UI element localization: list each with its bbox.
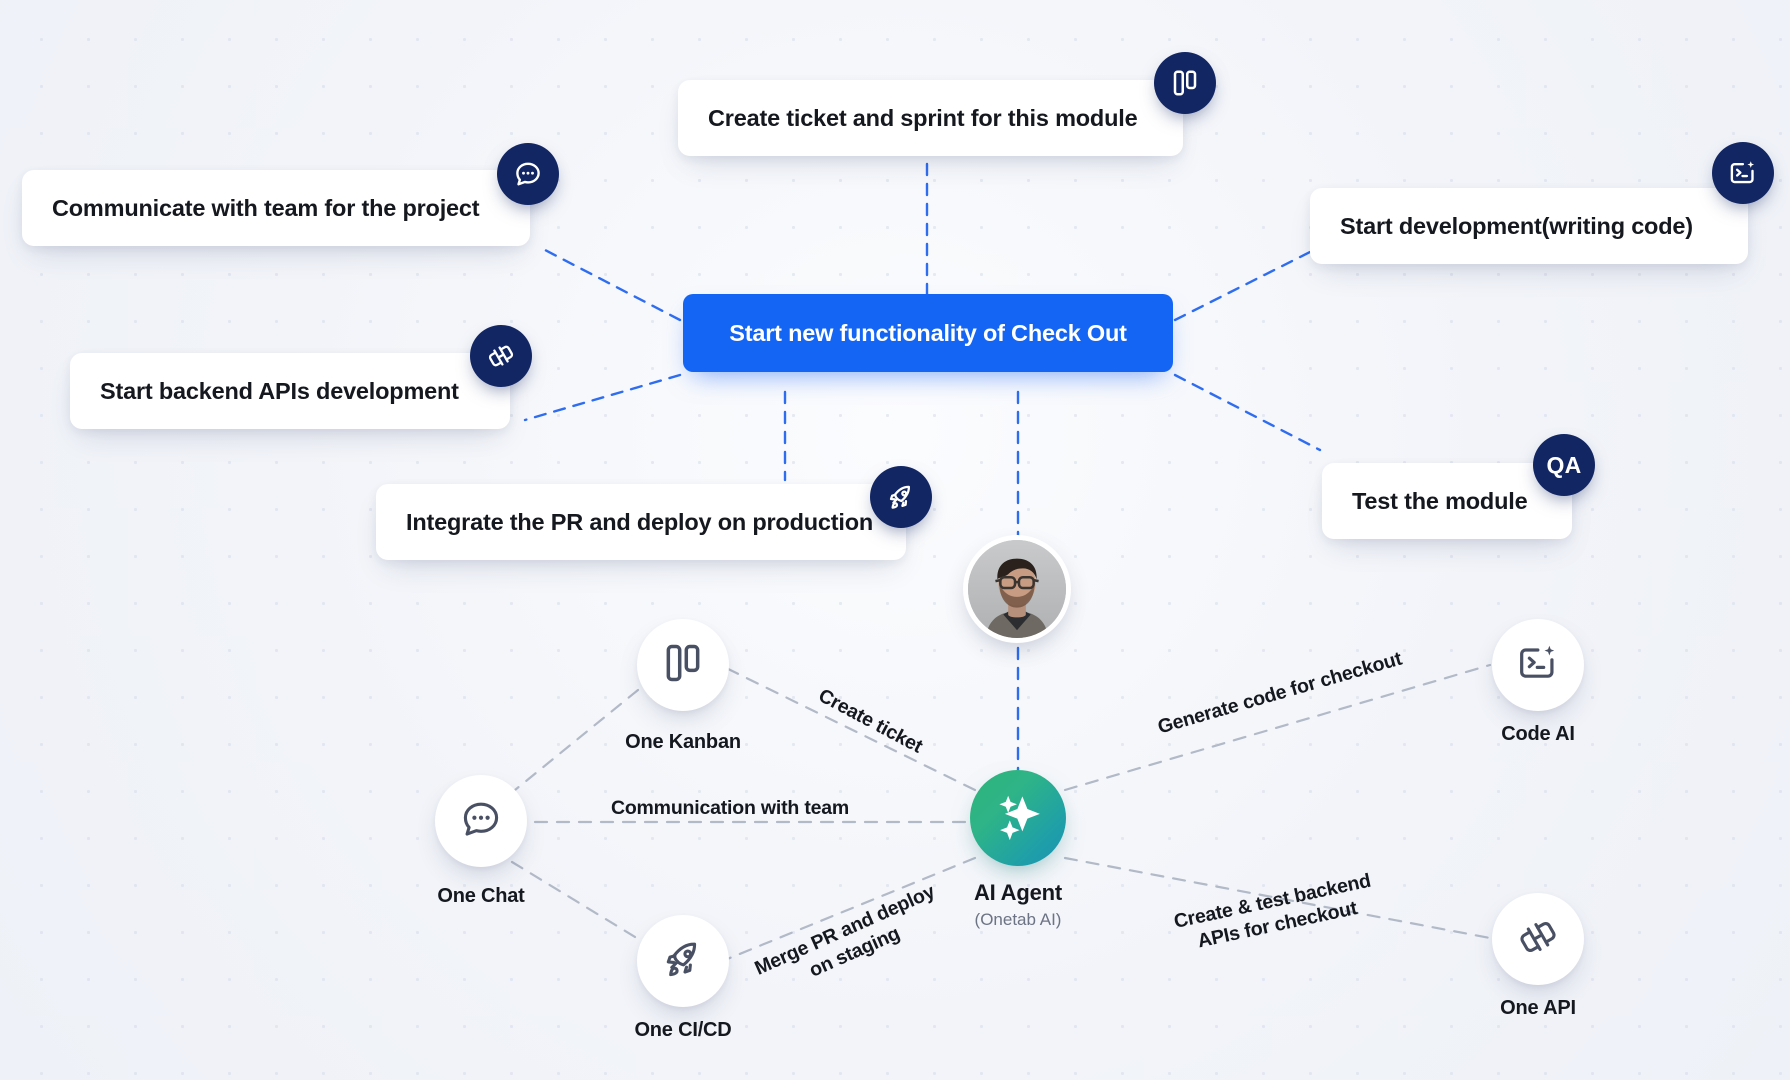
center-node[interactable]: Start new functionality of Check Out	[683, 294, 1173, 372]
edge-center-to-development	[1175, 252, 1310, 320]
service-node-one-kanban[interactable]	[637, 619, 729, 711]
code-ai-icon	[1728, 158, 1758, 188]
chat-icon-badge	[497, 143, 559, 205]
kanban-icon	[661, 641, 705, 690]
task-card-backend-apis[interactable]: Start backend APIs development	[70, 353, 510, 429]
qa-icon-badge: QA	[1533, 434, 1595, 496]
rocket-icon	[886, 482, 916, 512]
task-card-label: Communicate with team for the project	[52, 195, 479, 222]
rocket-icon	[661, 937, 705, 986]
kanban-icon	[1170, 68, 1200, 98]
service-label-one-api: One API	[1428, 997, 1648, 1020]
edge-label-communication: Communication with team	[600, 797, 860, 821]
task-card-communicate-team[interactable]: Communicate with team for the project	[22, 170, 530, 246]
task-card-label: Start development(writing code)	[1340, 213, 1693, 240]
task-card-label: Create ticket and sprint for this module	[708, 105, 1137, 132]
qa-badge-label: QA	[1546, 452, 1581, 479]
rocket-icon-badge	[870, 466, 932, 528]
task-card-label: Test the module	[1352, 488, 1527, 515]
service-label-code-ai: Code AI	[1428, 723, 1648, 746]
edge-center-to-communicate	[545, 250, 680, 320]
api-plug-icon	[486, 341, 516, 371]
service-node-one-cicd[interactable]	[637, 915, 729, 1007]
task-card-create-ticket[interactable]: Create ticket and sprint for this module	[678, 80, 1183, 156]
edge-center-to-backend-apis	[525, 375, 680, 420]
workflow-canvas: Create ticket and sprint for this module…	[0, 0, 1790, 1080]
code-ai-icon-badge	[1712, 142, 1774, 204]
avatar[interactable]	[963, 535, 1071, 643]
avatar-photo	[968, 540, 1066, 638]
service-label-one-cicd: One CI/CD	[573, 1019, 793, 1042]
service-node-code-ai[interactable]	[1492, 619, 1584, 711]
center-node-label: Start new functionality of Check Out	[729, 320, 1127, 347]
chat-icon	[513, 159, 543, 189]
api-plug-icon-badge	[470, 325, 532, 387]
service-label-one-chat: One Chat	[371, 885, 591, 908]
code-ai-icon	[1516, 641, 1560, 690]
service-node-one-chat[interactable]	[435, 775, 527, 867]
task-card-label: Integrate the PR and deploy on productio…	[406, 509, 873, 536]
service-node-one-api[interactable]	[1492, 893, 1584, 985]
sparkle-icon	[983, 781, 1053, 856]
task-card-integrate-pr[interactable]: Integrate the PR and deploy on productio…	[376, 484, 906, 560]
kanban-icon-badge	[1154, 52, 1216, 114]
task-card-label: Start backend APIs development	[100, 378, 459, 405]
edge-center-to-test-module	[1175, 375, 1320, 450]
chat-icon	[459, 797, 503, 846]
service-label-one-kanban: One Kanban	[573, 731, 793, 754]
api-plug-icon	[1516, 915, 1560, 964]
ai-agent-node[interactable]	[970, 770, 1066, 866]
task-card-start-development[interactable]: Start development(writing code)	[1310, 188, 1748, 264]
